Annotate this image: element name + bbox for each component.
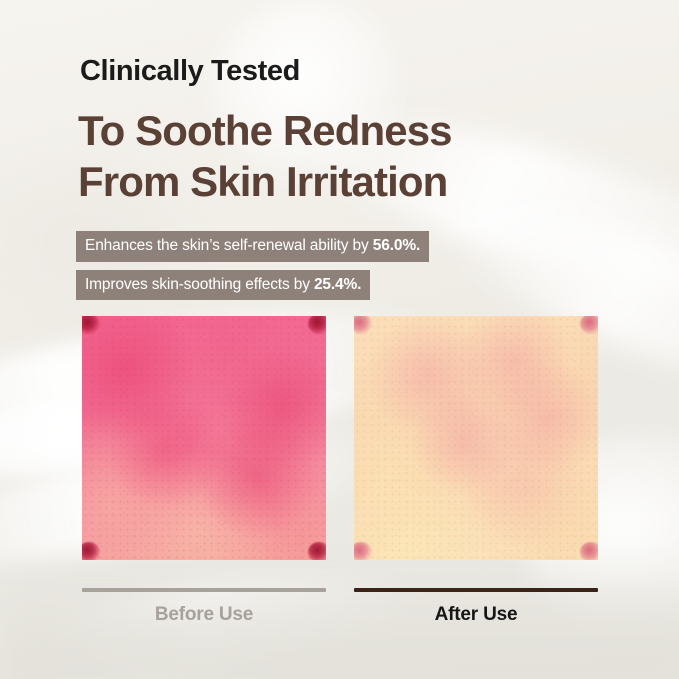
lesion-spot-icon [580,316,598,334]
headline-line-1: To Soothe Redness [78,105,452,156]
legend-column-after: After Use [354,588,598,626]
stat-value-soothing: 25.4%. [314,276,361,293]
before-after-legend: Before Use After Use [82,588,598,638]
lesion-spot-icon [308,542,326,560]
clinical-claim-card: Clinically Tested To Soothe Redness From… [0,0,679,679]
before-skin-grain [82,316,326,560]
card-content: Clinically Tested To Soothe Redness From… [0,0,679,679]
after-rule-divider [354,588,598,592]
before-use-label: Before Use [82,604,326,626]
stat-value-self-renewal: 56.0%. [373,237,420,254]
stat-row-soothing: Improves skin-soothing effects by 25.4%. [76,270,429,301]
stat-banner-soothing: Improves skin-soothing effects by 25.4%. [76,270,370,301]
lesion-spot-icon [308,316,326,334]
legend-column-before: Before Use [82,588,326,626]
clinical-stats-list: Enhances the skin’s self-renewal ability… [76,231,429,308]
after-use-image [354,316,598,560]
lesion-spot-icon [354,542,372,560]
lesion-spot-icon [82,542,100,560]
after-use-label: After Use [354,604,598,626]
before-after-panels [82,316,598,560]
stat-text-soothing: Improves skin-soothing effects by [85,276,314,293]
before-use-image [82,316,326,560]
stat-row-self-renewal: Enhances the skin’s self-renewal ability… [76,231,429,262]
stat-banner-self-renewal: Enhances the skin’s self-renewal ability… [76,231,429,262]
eyebrow-text: Clinically Tested [80,57,300,86]
after-skin-grain [354,316,598,560]
headline-line-2: From Skin Irritation [78,156,452,207]
before-rule-divider [82,588,326,592]
stat-text-self-renewal: Enhances the skin’s self-renewal ability… [85,237,373,254]
lesion-spot-icon [580,542,598,560]
page-title: To Soothe Redness From Skin Irritation [78,105,452,207]
